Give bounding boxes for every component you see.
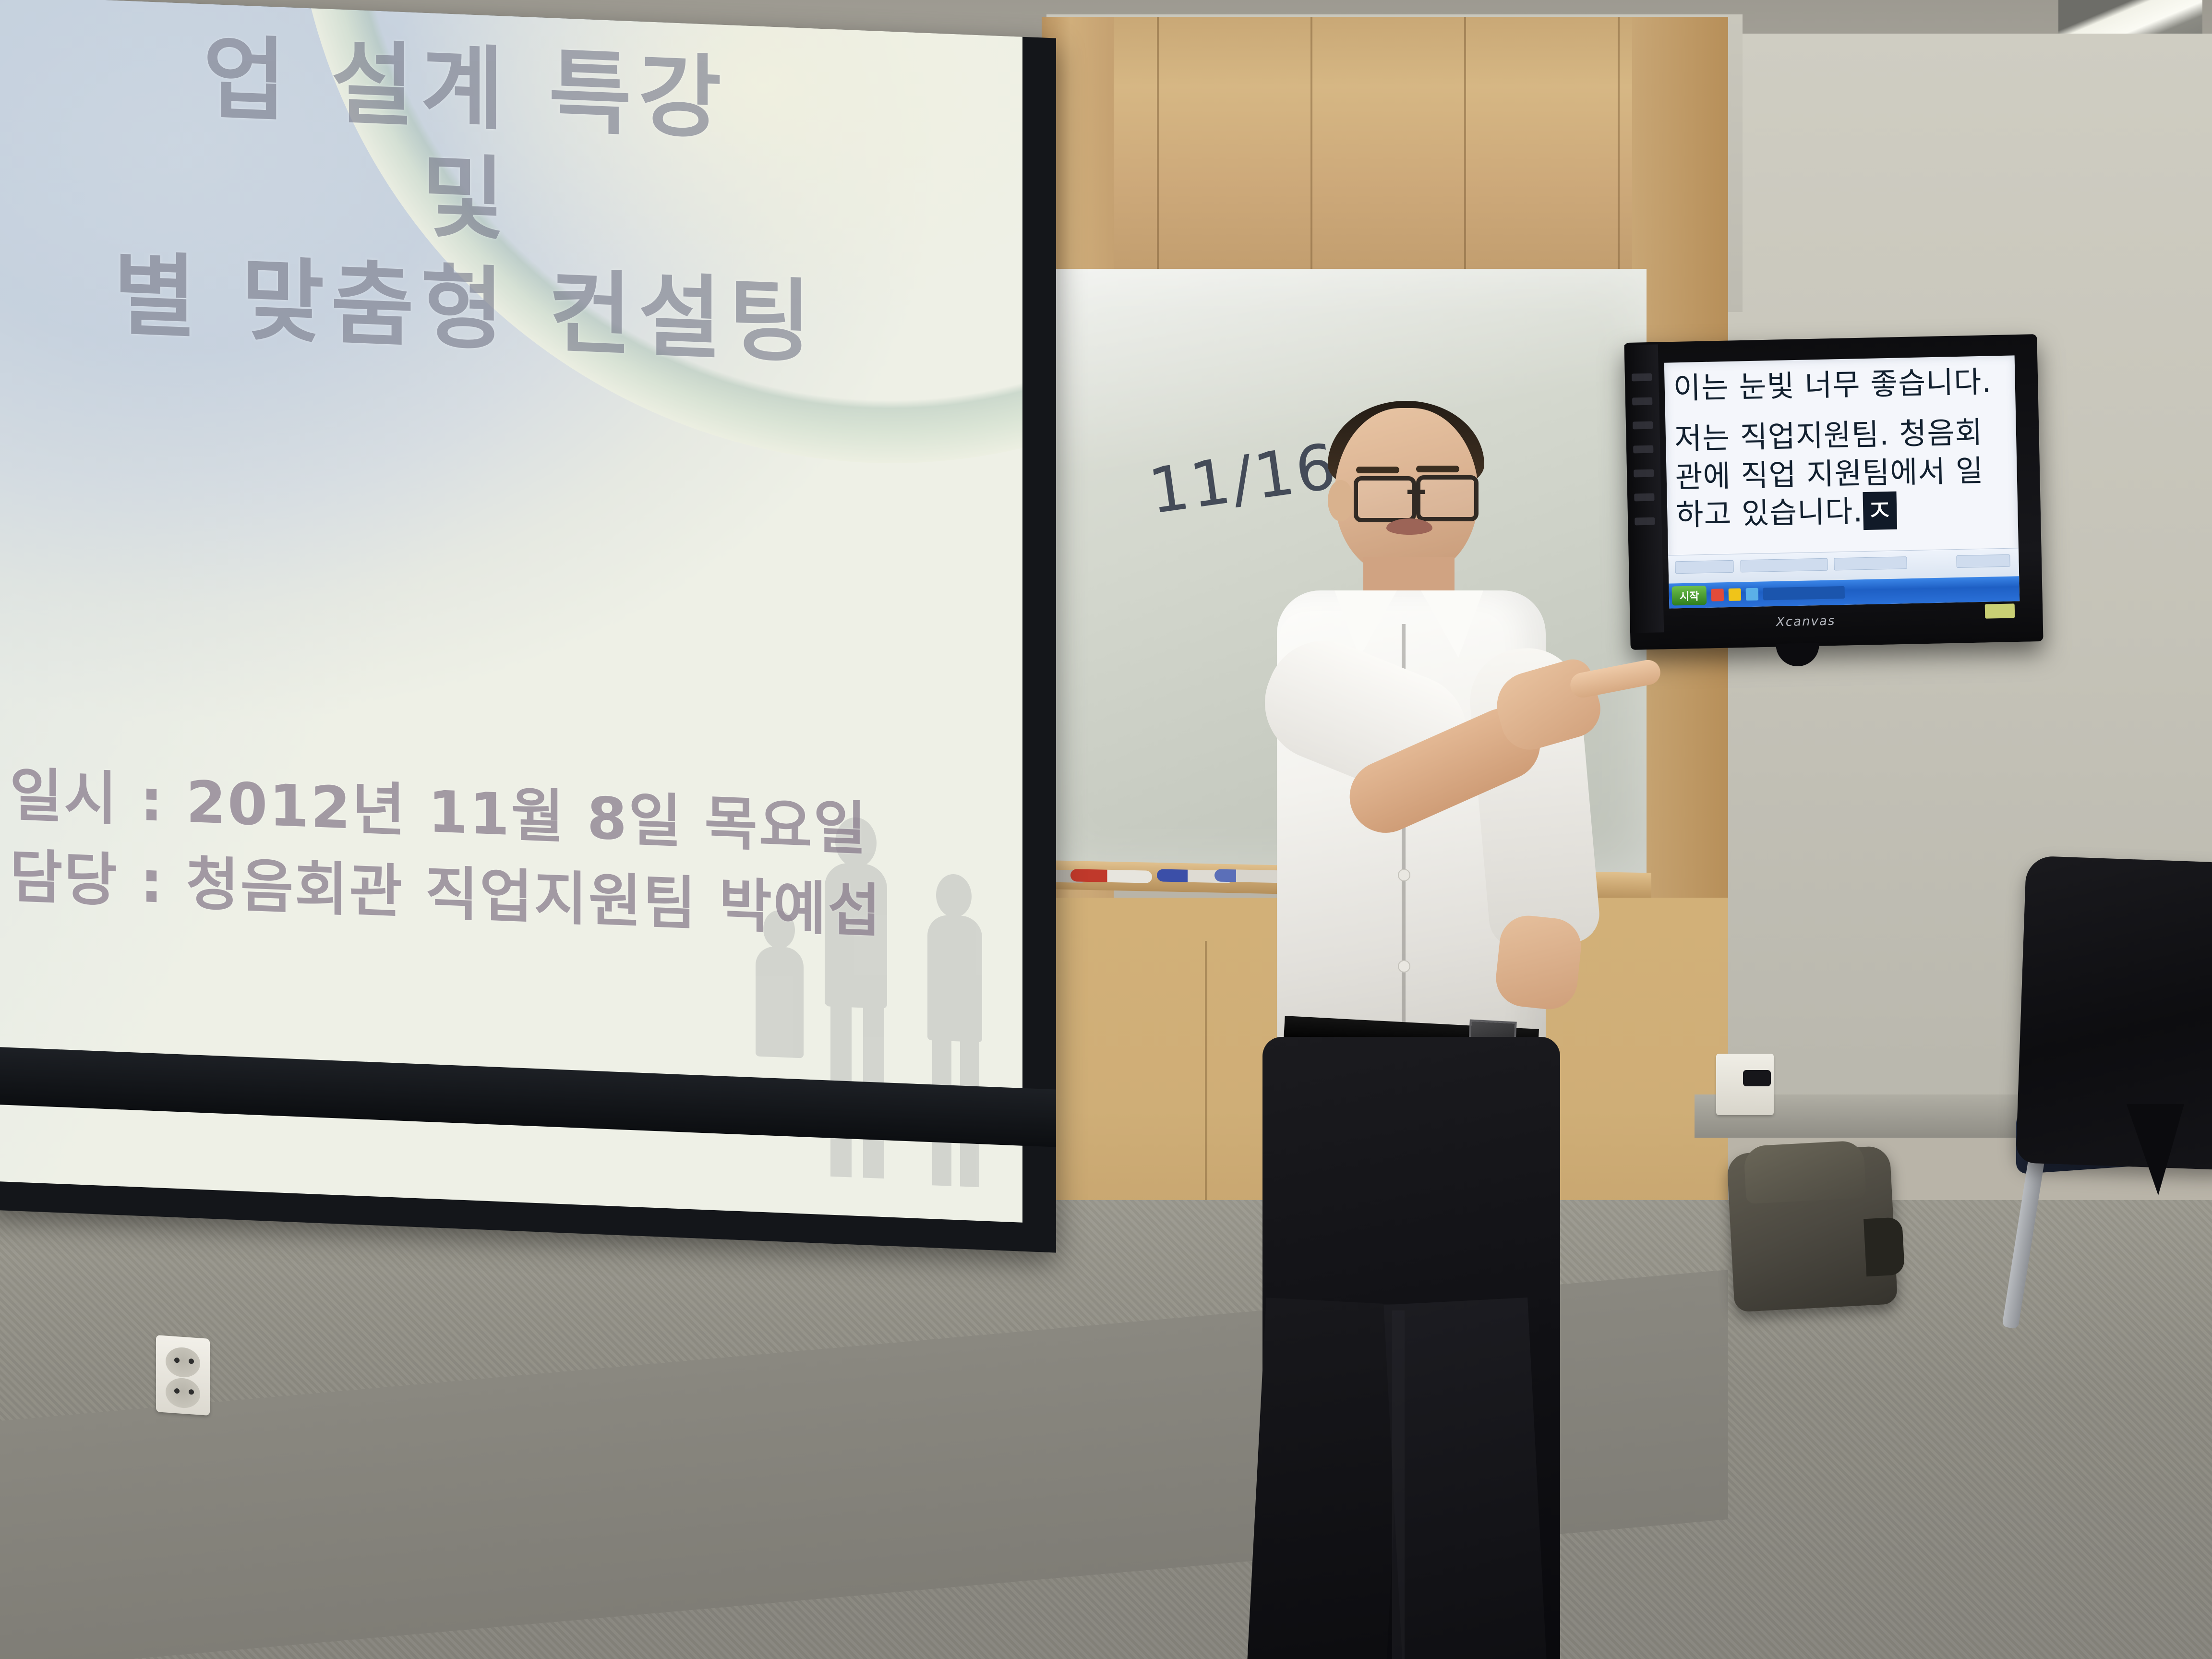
shirt-button <box>1398 869 1410 881</box>
eyeglasses-right-lens <box>1416 475 1479 521</box>
presenter-ear-left <box>1328 480 1354 521</box>
shirt-button <box>1398 960 1410 973</box>
wood-panel-upper <box>1042 17 1723 295</box>
backpack-strap <box>1863 1217 1905 1276</box>
taskbar-icon[interactable] <box>1711 589 1724 601</box>
eyeglasses-left-lens <box>1354 476 1416 522</box>
start-button[interactable]: 시작 <box>1671 586 1707 606</box>
wall-power-outlet-right[interactable] <box>1716 1054 1774 1115</box>
presenter-leg-left <box>1239 1298 1405 1659</box>
black-jacket[interactable] <box>2016 855 2212 1170</box>
text-cursor: ㅈ <box>1863 492 1897 530</box>
presenter-hand-resting <box>1493 913 1584 1012</box>
caption-monitor-screen: 이는 눈빛 너무 좋습니다. 저는 직업지원팀. 청음회관에 직업 지원팀에서 … <box>1664 355 2020 608</box>
caption-text: 이는 눈빛 너무 좋습니다. 저는 직업지원팀. 청음회관에 직업 지원팀에서 … <box>1673 362 2013 547</box>
presenter-eyebrow-left <box>1356 467 1399 473</box>
lecture-room-photo: 11/16 金 업 설계 특강 및 <box>0 0 2212 1659</box>
presenter <box>1190 398 1671 1551</box>
trouser-crease <box>1392 1310 1405 1659</box>
presenter-eyebrow-right <box>1416 466 1459 472</box>
monitor-brand-logo: Xcanvas <box>1776 614 1836 630</box>
taskbar-icon[interactable] <box>1729 588 1742 601</box>
marker-red[interactable] <box>1070 869 1152 883</box>
power-plug[interactable] <box>1743 1070 1771 1086</box>
eyeglasses-bridge <box>1407 490 1425 494</box>
wall-power-outlet-left[interactable] <box>156 1335 210 1416</box>
monitor-sticker <box>1985 603 2015 618</box>
caption-paragraph-2-text: 저는 직업지원팀. 청음회관에 직업 지원팀에서 일하고 있습니다. <box>1674 415 1984 532</box>
projection-screen: 업 설계 특강 및 별 맞춤형 컨설팅 일시 : 2012년 11월 8일 목요… <box>0 0 1022 1223</box>
backpack-flap <box>1743 1140 1866 1204</box>
caption-paragraph-1: 이는 눈빛 너무 좋습니다. <box>1673 362 2010 408</box>
presenter-mouth <box>1386 518 1432 535</box>
backpack[interactable] <box>1727 1145 1898 1312</box>
slide-title: 업 설계 특강 및 별 맞춤형 컨설팅 <box>0 13 965 384</box>
taskbar-icon[interactable] <box>1746 588 1759 601</box>
presenter-leg-right <box>1383 1298 1554 1659</box>
caption-paragraph-2: 저는 직업지원팀. 청음회관에 직업 지원팀에서 일하고 있습니다.ㅈ <box>1674 413 2012 534</box>
stacking-chair[interactable] <box>2007 878 2212 1339</box>
taskbar-window-button[interactable] <box>1763 586 1845 601</box>
